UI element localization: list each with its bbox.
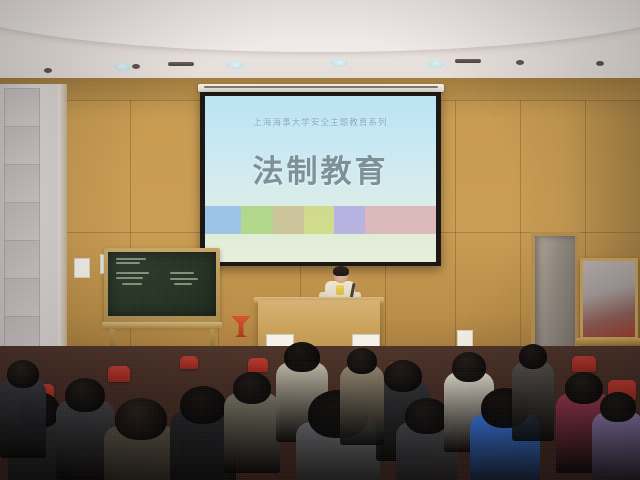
attendee-head <box>284 342 320 372</box>
slide-subtitle: 上海海事大学安全主题教育系列 <box>205 116 436 128</box>
seat-5[interactable] <box>572 356 596 372</box>
attendee-5 <box>224 372 280 462</box>
slide-footer-area <box>205 234 436 262</box>
attendee-head <box>180 386 226 424</box>
slide-color-bands <box>205 206 436 234</box>
ceiling-speaker-1 <box>44 68 52 73</box>
attendee-head <box>115 398 167 440</box>
chalk-line-7 <box>170 278 198 280</box>
ceiling-downlight-3 <box>331 59 348 67</box>
band-purple <box>334 206 365 234</box>
attendee-shoulders <box>0 378 46 458</box>
attendee-head <box>347 348 377 374</box>
projected-slide: 上海海事大学安全主题教育系列 法制教育 <box>205 96 436 262</box>
blackboard-chalk-tray <box>102 322 222 329</box>
band-olive <box>304 206 334 234</box>
speaker-scarf <box>336 285 344 295</box>
band-tan <box>273 206 304 234</box>
acoustic-tile-4 <box>4 202 40 242</box>
attendee-shoulders <box>224 393 280 473</box>
attendee-15 <box>340 348 384 438</box>
ceiling-vent-2 <box>455 59 481 63</box>
chalk-line-8 <box>174 283 192 285</box>
attendee-shoulders <box>340 365 384 445</box>
ceiling-downlight-1 <box>114 63 131 71</box>
ceiling-speaker-2 <box>132 64 140 69</box>
attendee-3 <box>104 398 178 480</box>
attendee-14 <box>0 360 46 450</box>
poster-shelf <box>576 338 640 345</box>
ceiling-vent-1 <box>168 62 194 66</box>
attendee-head <box>519 344 547 369</box>
acoustic-tile-2 <box>4 126 40 166</box>
ceiling-downlight-2 <box>227 61 244 69</box>
seat-7[interactable] <box>180 356 198 369</box>
attendee-shoulders <box>592 412 640 480</box>
chalk-line-4 <box>116 277 143 279</box>
attendee-13 <box>592 392 640 480</box>
acoustic-tile-6 <box>4 278 40 318</box>
projector-screen-housing <box>198 84 444 92</box>
band-pink <box>365 206 436 234</box>
attendee-16 <box>512 344 554 434</box>
chalk-line-1 <box>116 258 146 260</box>
wall-notice-1 <box>74 258 90 278</box>
seat-2[interactable] <box>248 358 268 372</box>
framed-poster <box>580 258 638 340</box>
band-blue <box>205 206 241 234</box>
lecture-hall-photo: 上海海事大学安全主题教育系列 法制教育 <box>0 0 640 480</box>
acoustic-tile-1 <box>4 88 40 128</box>
attendee-head <box>405 398 449 434</box>
attendee-head <box>65 378 105 412</box>
wall-seam-6 <box>520 100 521 362</box>
ceiling-speaker-3 <box>516 60 524 65</box>
chalk-line-6 <box>170 272 194 274</box>
ceiling-speaker-4 <box>596 61 604 66</box>
blackboard-surface <box>108 252 216 316</box>
speaker-hair <box>333 266 349 276</box>
chalk-line-5 <box>122 283 142 285</box>
attendee-head <box>7 360 39 388</box>
wall-corner-edge <box>58 84 67 352</box>
slide-title: 法制教育 <box>205 146 436 191</box>
attendee-head <box>452 352 486 382</box>
attendee-head <box>600 392 636 422</box>
door-frame <box>531 232 579 358</box>
acoustic-tile-5 <box>4 240 40 280</box>
chalk-line-3 <box>116 272 149 274</box>
chalk-line-2 <box>116 262 140 264</box>
attendee-head <box>384 360 422 392</box>
wall-seam-5 <box>455 100 456 362</box>
attendee-shoulders <box>512 361 554 441</box>
attendee-head <box>233 372 271 404</box>
ceiling-downlight-4 <box>428 60 445 68</box>
acoustic-tile-3 <box>4 164 40 204</box>
band-green <box>241 206 273 234</box>
